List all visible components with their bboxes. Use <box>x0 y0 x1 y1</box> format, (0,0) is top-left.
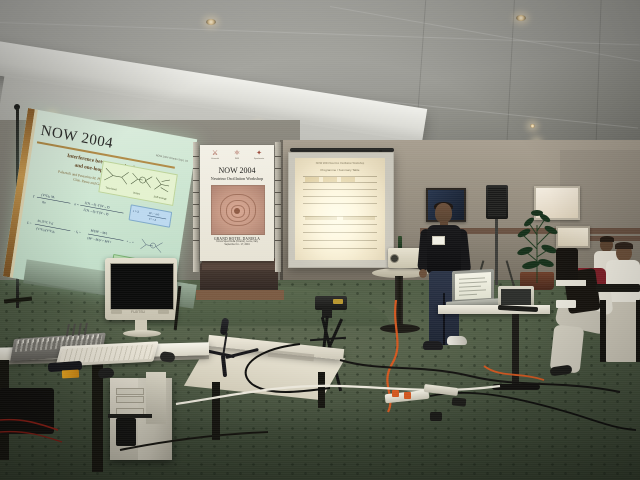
poster-title: NOW 2004 <box>200 166 274 175</box>
svg-text:Vertex: Vertex <box>133 191 142 196</box>
audience-hair <box>615 242 633 249</box>
poster-logo-row: ⚔ Università ⚛ INFN ✦ Dipartimento <box>204 150 270 162</box>
svg-text:ε = Σ: ε = Σ <box>133 209 140 214</box>
chair-backrest <box>556 248 578 282</box>
downlight-icon <box>530 124 535 128</box>
department-logo-icon: ✦ <box>252 150 266 158</box>
svg-text:Γ: Γ <box>33 194 36 198</box>
banner-post-left <box>193 142 199 272</box>
black-cable <box>120 432 268 450</box>
poster-banner-stand: ⚔ Università ⚛ INFN ✦ Dipartimento NOW 2… <box>193 142 281 272</box>
infn-logo-icon: ⚛ <box>230 150 244 158</box>
presenter-torso <box>427 225 461 273</box>
poster-dates: September 11 - 17, 2004 <box>200 244 274 247</box>
poster-map-image <box>211 185 265 235</box>
svg-text:Im [V²C Vᵢⱼ]: Im [V²C Vᵢⱼ] <box>37 219 53 226</box>
callout-blue: ε = Σm²ᵢ − m²ⱼΓ² + δ <box>129 204 173 227</box>
conference-poster: ⚔ Università ⚛ INFN ✦ Dipartimento NOW 2… <box>200 145 274 261</box>
potted-plant <box>515 205 559 285</box>
svg-text:Σ =: Σ = <box>27 221 32 226</box>
screen2-title: Programme / Summary Table <box>295 168 385 172</box>
floor-adapter <box>430 412 442 421</box>
side-table <box>556 280 586 286</box>
downlight-icon <box>516 15 526 21</box>
speaker-grille <box>488 187 506 217</box>
sofa-plinth <box>196 290 284 300</box>
orange-plug <box>392 390 399 397</box>
floor-adapter <box>452 397 467 406</box>
laptop-display <box>455 272 491 300</box>
poster-logo-caption: INFN <box>230 158 244 160</box>
orange-plug <box>404 392 411 399</box>
poster-logo-caption: Università <box>208 158 222 160</box>
svg-text:σ =: σ = <box>74 202 79 207</box>
pa-speaker <box>486 185 508 219</box>
projection-screen-center: NOW 2004 Neutrino Oscillation Workshop P… <box>288 152 392 266</box>
poster-subtitle: Neutrino Oscillation Workshop <box>200 176 274 181</box>
poster-logo: ⚔ Università <box>208 150 222 162</box>
presenter-head <box>435 203 452 223</box>
feynman-diagram-panel: Tree-level Vertex Self-energy <box>98 161 178 207</box>
downlight-icon <box>206 19 216 25</box>
orange-power-cable <box>484 366 544 380</box>
chair-seat <box>596 284 640 292</box>
svg-text:· fᵢⱼ =: · fᵢⱼ = <box>74 229 81 234</box>
banner-post-right <box>275 142 281 272</box>
screen2-projected-document: NOW 2004 Neutrino Oscillation Workshop P… <box>295 158 385 260</box>
name-badge <box>432 236 445 245</box>
speaker-stand-pole <box>495 219 498 285</box>
poster-logo: ⚛ INFN <box>230 150 244 162</box>
svg-text:Tree-level: Tree-level <box>105 185 117 191</box>
svg-text:(M² − M²)² + M²Γ²: (M² − M²)² + M²Γ² <box>87 236 111 244</box>
poster-logo-caption: Dipartimento <box>252 158 266 160</box>
svg-text:Γ(N→ℓ)+Γ(N→ℓ̄): Γ(N→ℓ)+Γ(N→ℓ̄) <box>83 208 108 217</box>
feynman-diagrams-svg: Tree-level Vertex Self-energy <box>99 162 176 205</box>
paper-sheet <box>556 300 576 308</box>
projector-lens-icon <box>390 254 399 263</box>
floor-cables <box>0 300 640 480</box>
svg-text:m²ᵢ − m²ⱼ: m²ᵢ − m²ⱼ <box>149 211 161 217</box>
poster-footer: GRAND HOTEL DANIELA Conca Specchiulla (O… <box>200 237 274 248</box>
red-cable <box>0 420 58 430</box>
slide-corner-note: NOW 2004 Otranto Sept. 04 <box>156 154 189 163</box>
university-crest-icon: ⚔ <box>208 150 222 158</box>
svg-text:M²(M² − M²): M²(M² − M²) <box>90 228 107 235</box>
plant-foliage <box>515 205 559 285</box>
red-cable <box>0 432 62 442</box>
conference-room-photo: NOW 2004 NOW 2004 Otranto Sept. 04 Inter… <box>0 0 640 480</box>
svg-text:8π: 8π <box>42 200 46 205</box>
svg-text:+ ... +: + ... + <box>126 239 134 244</box>
svg-text:Γ² + δ: Γ² + δ <box>149 217 157 222</box>
audience-hair <box>600 236 614 242</box>
screen2-header: NOW 2004 Neutrino Oscillation Workshop <box>295 162 385 165</box>
poster-logo: ✦ Dipartimento <box>252 150 266 162</box>
presenter-hand-left <box>419 269 427 278</box>
svg-text:Self-energy: Self-energy <box>153 194 167 201</box>
framed-picture <box>556 226 590 248</box>
